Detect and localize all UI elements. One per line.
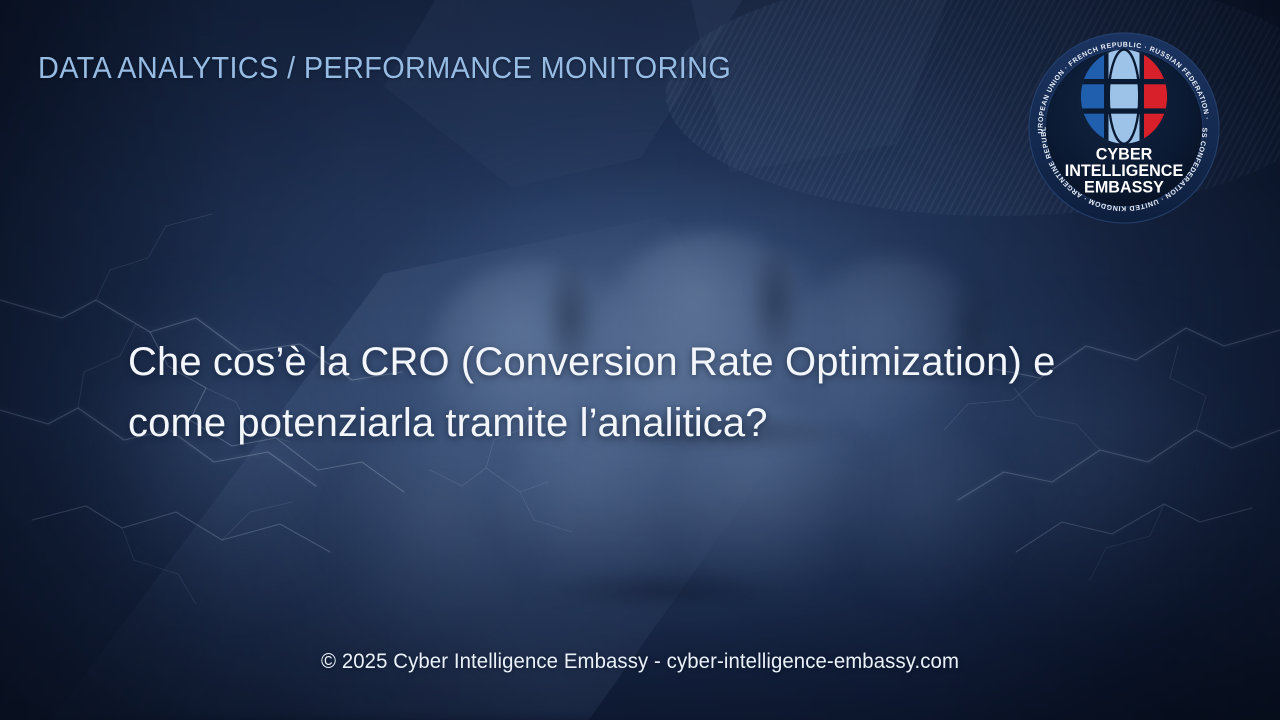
presentation-slide: DATA ANALYTICS / PERFORMANCE MONITORING … [0,0,1280,720]
logo-word-intelligence: INTELLIGENCE [1065,162,1184,180]
slide-category-label: DATA ANALYTICS / PERFORMANCE MONITORING [38,50,731,86]
logo-word-embassy: EMBASSY [1084,179,1164,197]
slide-footer-copyright: © 2025 Cyber Intelligence Embassy - cybe… [19,650,1261,674]
slide-headline: Che cos’è la CRO (Conversion Rate Optimi… [128,332,1108,454]
headline-line-1: Che cos’è la CRO (Conversion Rate Optimi… [128,332,1108,393]
cyber-intelligence-embassy-logo[interactable]: UNITED STATES OF AMERICA · EUROPEAN UNIO… [1026,30,1222,226]
logo-word-cyber: CYBER [1096,145,1153,163]
headline-line-2: come potenziarla tramite l’analitica? [128,393,1108,454]
